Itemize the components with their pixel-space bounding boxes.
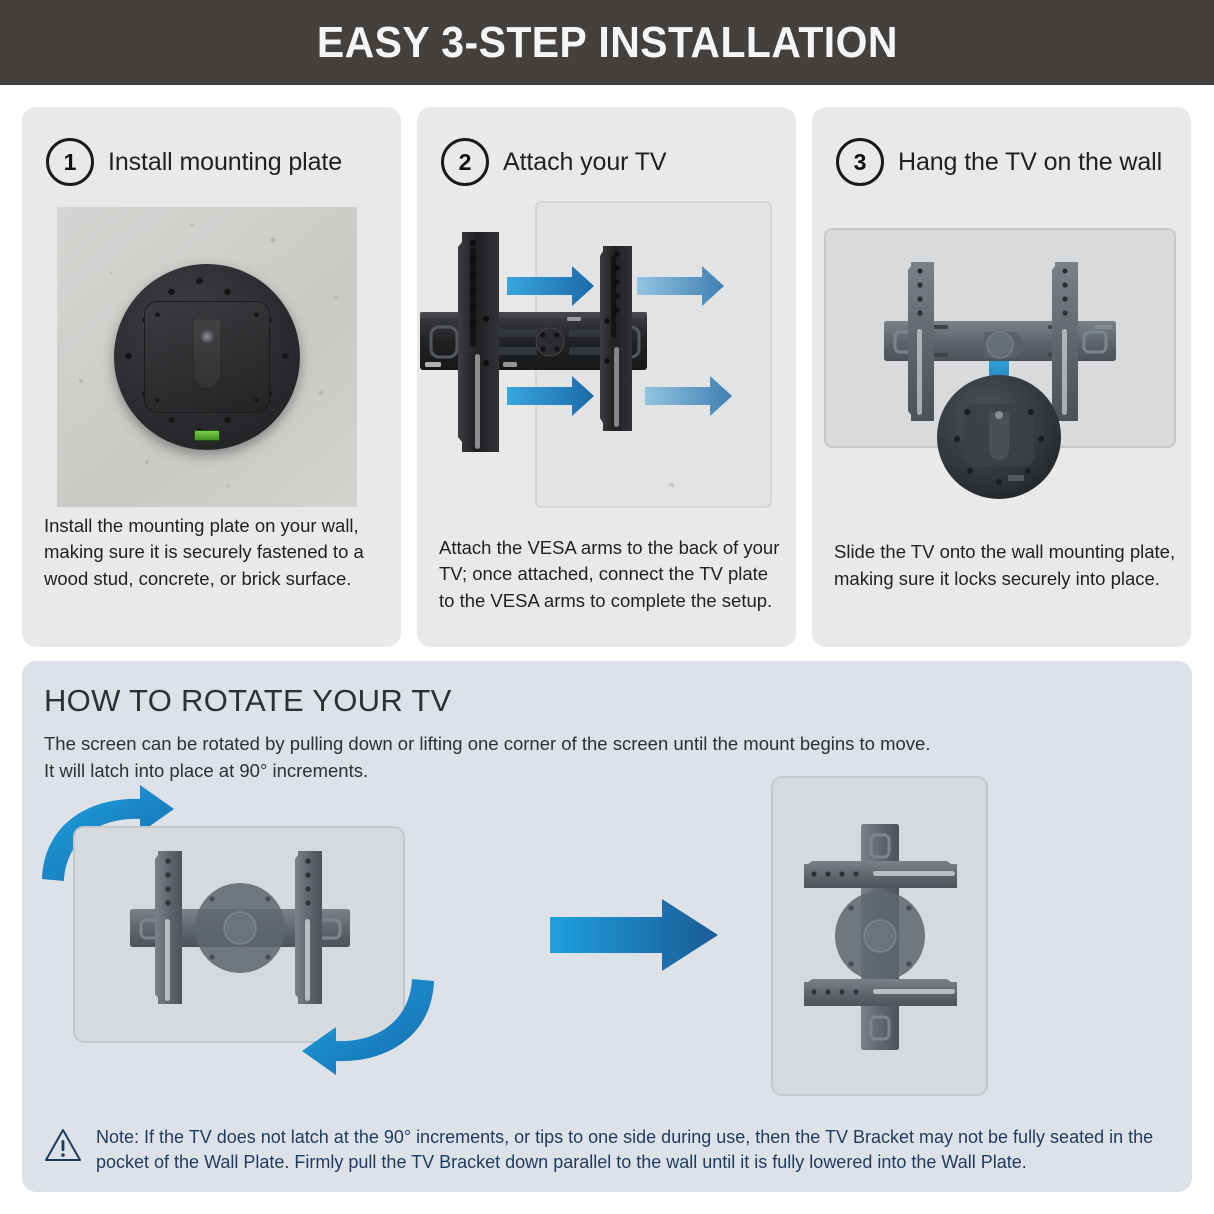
warning-note: Note: If the TV does not latch at the 90…	[44, 1125, 1174, 1176]
round-wall-plate	[114, 264, 300, 450]
wall-plate-photo	[57, 207, 357, 507]
step-3-title: Hang the TV on the wall	[898, 148, 1162, 177]
step-1-figure	[22, 199, 401, 529]
tv-landscape-figure	[74, 827, 404, 1042]
warning-triangle-icon	[44, 1128, 82, 1162]
vesa-arm-right	[1052, 262, 1078, 421]
wall-plate-center-bracket	[144, 301, 270, 413]
vesa-arm-left	[458, 232, 499, 452]
header-banner: EASY 3-STEP INSTALLATION	[0, 0, 1214, 85]
steps-row: 1 Install mounting plate	[22, 107, 1192, 647]
step-3-header: 3 Hang the TV on the wall	[812, 107, 1191, 191]
step-2-number-badge: 2	[441, 138, 489, 186]
rotate-description-line-1: The screen can be rotated by pulling dow…	[44, 731, 1164, 758]
step-1-number-badge: 1	[46, 138, 94, 186]
vesa-arm-left	[908, 262, 934, 421]
step-card-3: 3 Hang the TV on the wall	[812, 107, 1191, 647]
step-2-description: Attach the VESA arms to the back of your…	[439, 535, 781, 614]
wall-plate-slot	[192, 318, 222, 390]
step-2-title: Attach your TV	[503, 148, 667, 177]
vesa-attach-diagram	[417, 199, 796, 529]
round-wall-plate	[937, 375, 1061, 499]
step-3-description: Slide the TV onto the wall mounting plat…	[834, 539, 1176, 592]
wall-plate-pivot-bolt	[201, 330, 214, 343]
vesa-arm-right	[600, 246, 632, 431]
step-1-title: Install mounting plate	[108, 148, 342, 177]
rotate-section: HOW TO ROTATE YOUR TV The screen can be …	[22, 661, 1192, 1192]
rotate-section-title: HOW TO ROTATE YOUR TV	[44, 683, 452, 719]
transition-arrow-icon	[550, 899, 718, 971]
rotate-figures	[22, 769, 1192, 1099]
step-card-2: 2 Attach your TV	[417, 107, 796, 647]
step-3-figure	[812, 199, 1191, 529]
step-3-number-badge: 3	[836, 138, 884, 186]
step-1-header: 1 Install mounting plate	[22, 107, 401, 191]
step-2-figure	[417, 199, 796, 529]
tv-portrait-figure	[772, 777, 987, 1095]
infographic-page: EASY 3-STEP INSTALLATION 1 Install mount…	[0, 0, 1214, 1214]
bubble-level	[194, 430, 220, 441]
warning-note-text: Note: If the TV does not latch at the 90…	[96, 1125, 1174, 1176]
rotation-diagram	[22, 769, 1192, 1099]
step-2-header: 2 Attach your TV	[417, 107, 796, 191]
step-card-1: 1 Install mounting plate	[22, 107, 401, 647]
page-title: EASY 3-STEP INSTALLATION	[316, 18, 897, 68]
hang-tv-diagram	[812, 199, 1191, 529]
step-1-description: Install the mounting plate on your wall,…	[44, 513, 386, 592]
